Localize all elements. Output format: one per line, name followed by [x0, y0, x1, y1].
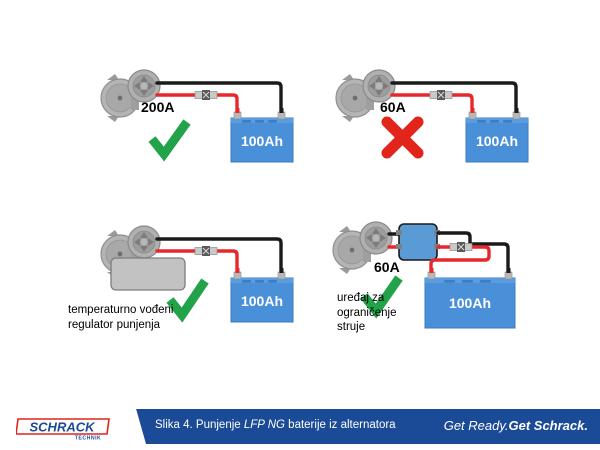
battery-negative-terminal	[505, 268, 512, 279]
fuse-icon	[195, 90, 217, 100]
figure-canvas: 100Ah 200A	[0, 0, 600, 450]
battery-icon: 100Ah	[466, 108, 528, 162]
caption-current-limiter: uređaj za ograničenje struje	[337, 291, 467, 335]
battery-icon: 100Ah	[231, 108, 293, 162]
fuse-icon	[450, 242, 472, 252]
battery-capacity-label: 100Ah	[241, 133, 283, 149]
charge-regulator-box	[111, 258, 185, 290]
alternator-rating-label: 60A	[374, 259, 400, 275]
battery-negative-terminal	[513, 108, 520, 119]
diagram-panel-top-left: 100Ah 200A	[95, 62, 300, 172]
tagline-get-schrack: Get Schrack.	[509, 418, 589, 433]
battery-negative-terminal	[278, 108, 285, 119]
fuse-icon	[430, 90, 452, 100]
negative-wire	[392, 83, 516, 114]
brand-tagline: Get Ready.Get Schrack.	[444, 418, 588, 433]
footer: SCHRACK TECHNIK Slika 4. Punjenje LFP NG…	[0, 406, 600, 450]
schrack-logo-text: SCHRACK	[30, 420, 97, 435]
diagram-panel-top-right: 100Ah 60A	[330, 62, 535, 172]
alternator-rating-label: 60A	[380, 99, 406, 115]
figure-caption-prefix: Slika 4. Punjenje	[155, 419, 244, 431]
caption-temperature-regulator: temperaturno vođeni regulator punjenja	[68, 303, 248, 332]
battery-positive-terminal	[428, 268, 435, 279]
battery-positive-terminal	[234, 108, 241, 119]
fuse-icon	[195, 246, 217, 256]
figure-caption-product: LFP NG	[244, 419, 285, 431]
schrack-logo-icon: SCHRACK TECHNIK	[16, 415, 112, 442]
tagline-get-ready: Get Ready.	[444, 418, 509, 433]
battery-capacity-label: 100Ah	[476, 133, 518, 149]
negative-wire-out	[438, 233, 508, 274]
battery-positive-terminal	[469, 108, 476, 119]
figure-caption-suffix: baterije iz alternatora	[285, 419, 396, 431]
schrack-logo-subtext: TECHNIK	[75, 436, 102, 442]
battery-negative-terminal	[278, 268, 285, 279]
alternator-rating-label: 200A	[141, 99, 174, 115]
verdict-cross-icon	[387, 122, 418, 153]
figure-caption: Slika 4. Punjenje LFP NG baterije iz alt…	[155, 419, 396, 431]
current-limiter-box	[396, 224, 440, 260]
negative-wire	[157, 83, 281, 114]
verdict-check-icon	[152, 122, 187, 154]
battery-positive-terminal	[234, 268, 241, 279]
